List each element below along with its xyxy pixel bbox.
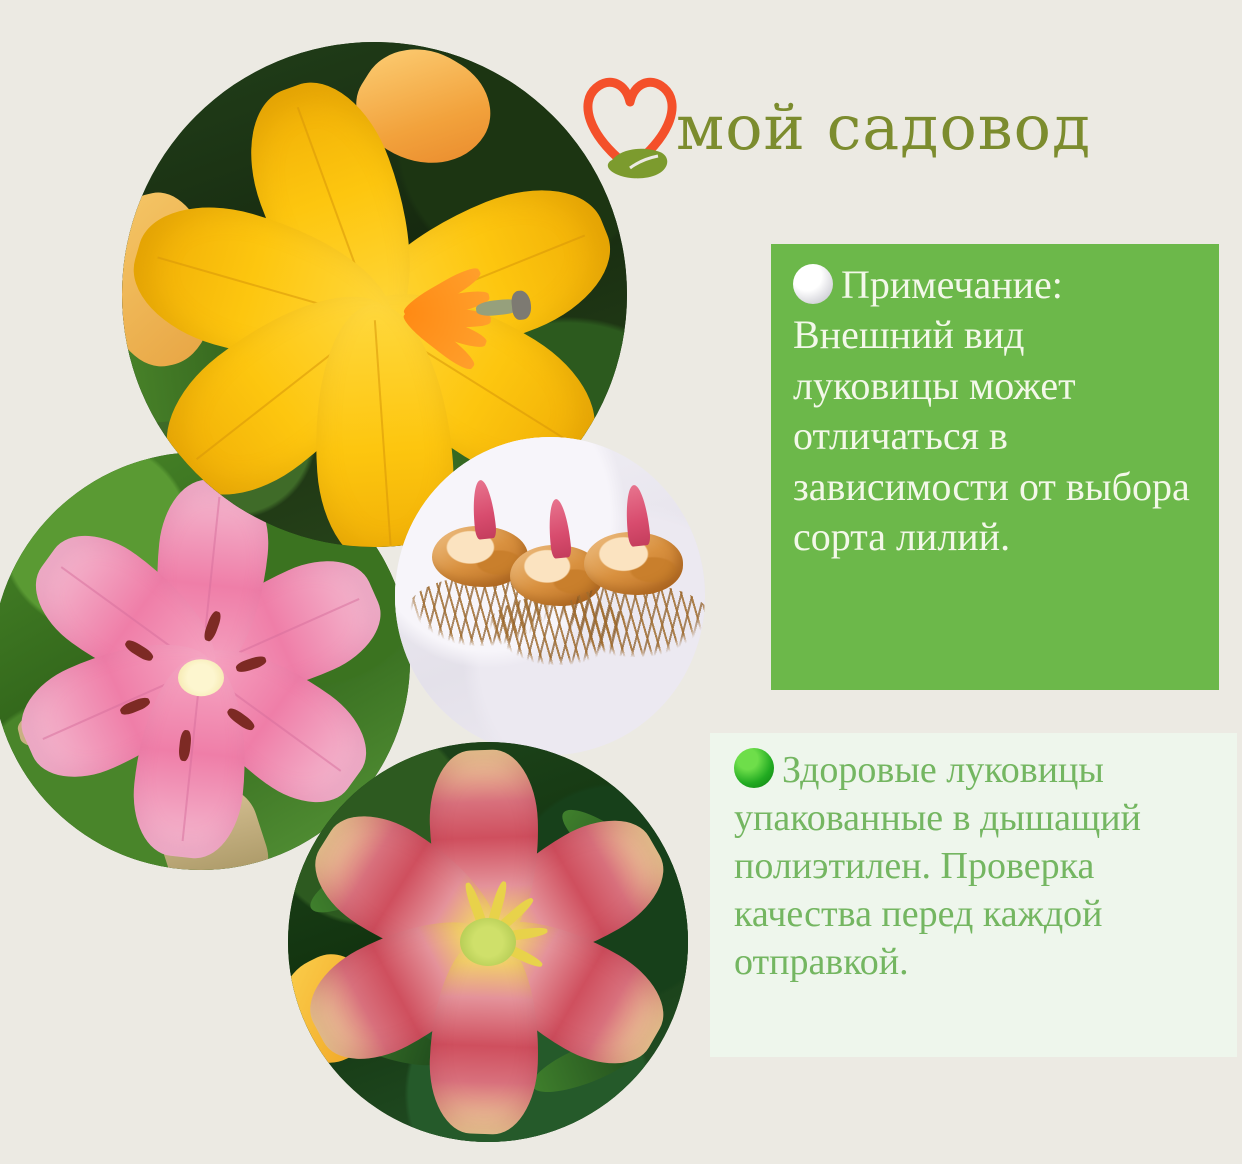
flower-center [178, 659, 224, 697]
white-circle-bullet-icon [793, 264, 833, 304]
lily-bulb [584, 532, 683, 631]
note-green-text: Примечание: Внешний вид луковицы может о… [793, 260, 1197, 562]
note-light-text: Здоровые луковицы упакованные в дышащий … [734, 747, 1217, 986]
brand-name: мой садовод [676, 97, 1091, 159]
red-yellow-lily-photo [288, 742, 688, 1142]
green-circle-bullet-icon [734, 748, 774, 788]
note-box-light: Здоровые луковицы упакованные в дышащий … [710, 733, 1237, 1057]
note-box-green: Примечание: Внешний вид луковицы может о… [771, 244, 1219, 690]
note-green-body: Примечание: Внешний вид луковицы может о… [793, 262, 1190, 559]
lily-bulbs-photo [395, 437, 705, 755]
brand-logo[interactable]: мой садовод [578, 58, 1218, 198]
poster-canvas: мой садовод Примечание: Внешний вид луко… [0, 0, 1242, 1164]
note-light-body: Здоровые луковицы упакованные в дышащий … [734, 749, 1141, 983]
heart-leaf-icon [578, 72, 682, 184]
flower-center [460, 918, 516, 966]
